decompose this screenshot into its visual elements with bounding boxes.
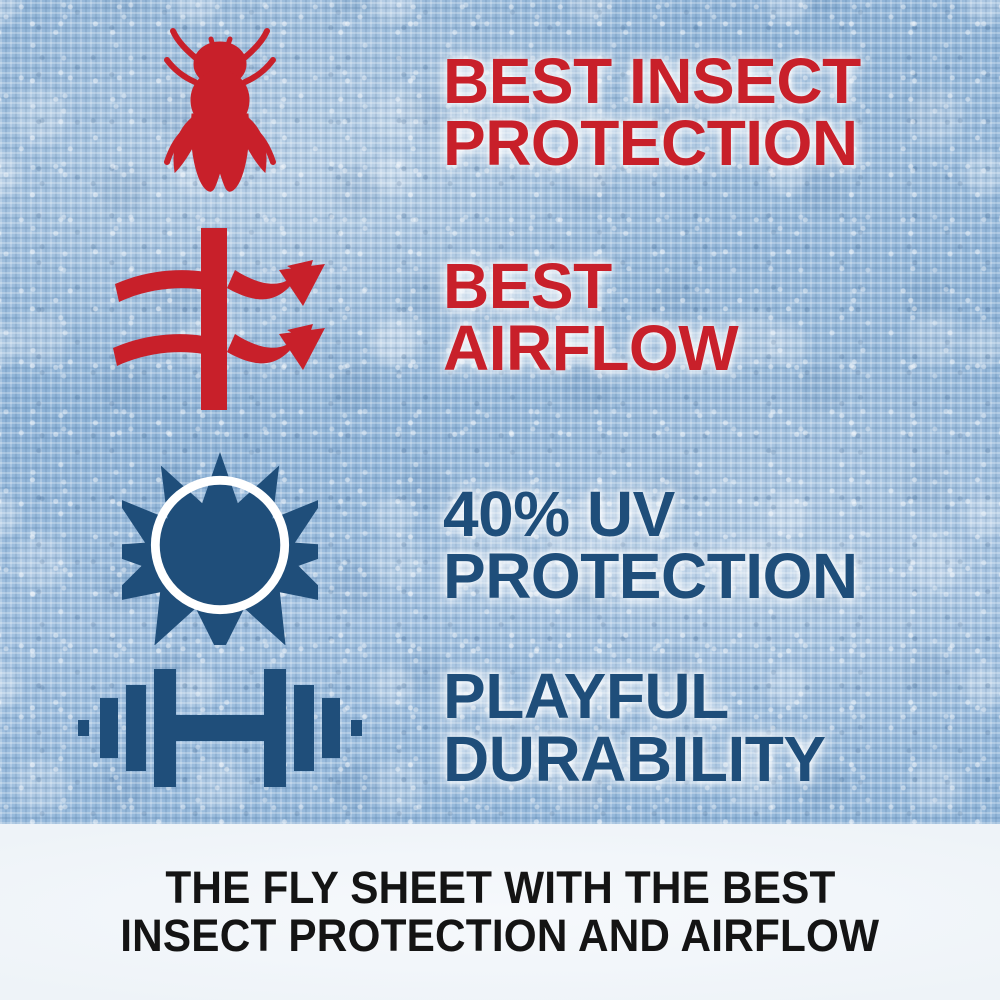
upper-incoming-arc <box>115 270 205 302</box>
icon-cell-airflow <box>0 222 440 412</box>
feature-text-best-insect-protection: BEST INSECT PROTECTION <box>440 50 1000 174</box>
caption-line-2: INSECT PROTECTION AND AIRFLOW <box>121 912 880 960</box>
left-tip-plate <box>78 720 89 736</box>
lower-incoming-arc <box>113 334 203 366</box>
icon-cell-dumbbell <box>0 663 440 793</box>
airflow-arrows-icon <box>109 222 331 412</box>
right-plate-large <box>264 669 286 787</box>
feature-text-best-airflow: BEST AIRFLOW <box>440 255 1000 379</box>
feature-line-1: BEST INSECT <box>443 50 1000 112</box>
dumbbell-bar <box>176 715 264 741</box>
right-tip-plate <box>351 720 362 736</box>
feature-line-2: PROTECTION <box>443 545 1000 607</box>
icon-cell-fly <box>0 22 440 202</box>
feature-row-uv-protection: 40% UV PROTECTION <box>0 440 1000 650</box>
left-plate-large <box>154 669 176 787</box>
dumbbell-icon <box>78 663 362 793</box>
feature-row-best-insect-protection: BEST INSECT PROTECTION <box>0 22 1000 202</box>
barrier-bar <box>201 228 227 410</box>
caption-line-1: THE FLY SHEET WITH THE BEST <box>165 864 835 912</box>
sun-icon <box>122 445 318 645</box>
feature-row-playful-durability: PLAYFUL DURABILITY <box>0 650 1000 805</box>
feature-text-uv-protection: 40% UV PROTECTION <box>440 483 1000 607</box>
feature-line-2: PROTECTION <box>443 112 1000 174</box>
caption-band: THE FLY SHEET WITH THE BEST INSECT PROTE… <box>0 824 1000 1000</box>
feature-line-1: 40% UV <box>443 483 1000 545</box>
feature-line-2: AIRFLOW <box>443 317 1000 379</box>
feature-line-1: PLAYFUL <box>443 665 1000 727</box>
feature-text-playful-durability: PLAYFUL DURABILITY <box>440 665 1000 789</box>
feature-row-best-airflow: BEST AIRFLOW <box>0 222 1000 412</box>
feature-line-1: BEST <box>443 255 1000 317</box>
right-plate-small <box>322 698 340 758</box>
left-plate-medium <box>126 685 146 771</box>
right-plate-medium <box>294 685 314 771</box>
feature-line-2: DURABILITY <box>443 728 1000 790</box>
fly-icon <box>145 22 295 202</box>
product-feature-infographic: BEST INSECT PROTECTION <box>0 0 1000 1000</box>
icon-cell-sun <box>0 445 440 645</box>
left-plate-small <box>100 698 118 758</box>
